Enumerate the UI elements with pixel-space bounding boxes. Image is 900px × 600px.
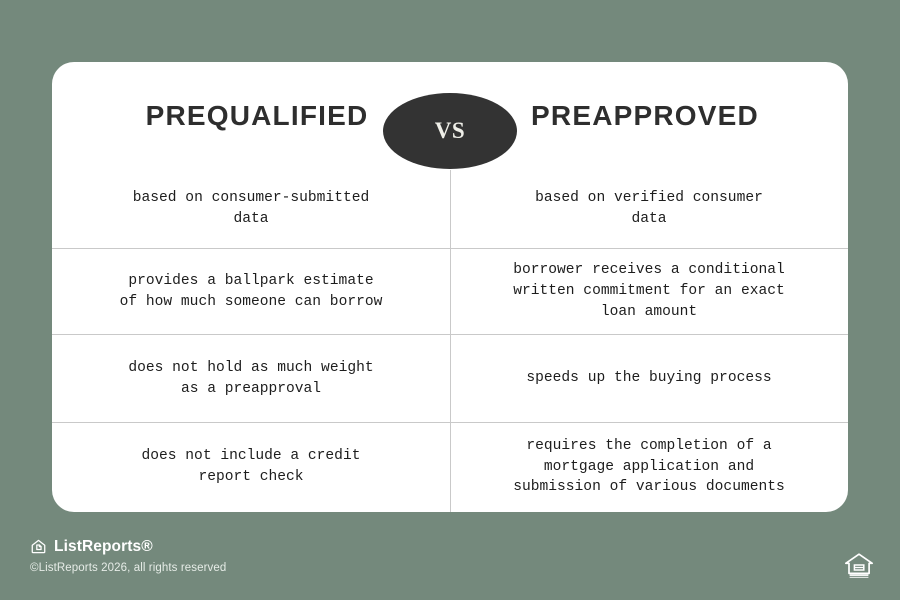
comparison-card: PREQUALIFIED PREAPPROVED VS based on con… — [52, 62, 848, 512]
cell-text: does not include a credit report check — [142, 446, 361, 487]
cell-text: requires the completion of a mortgage ap… — [513, 436, 785, 498]
table-cell-left: provides a ballpark estimate of how much… — [52, 249, 450, 334]
page-title-prequalified: PREQUALIFIED — [146, 100, 369, 132]
footer-branding: ListReports® ©ListReports 2026, all righ… — [30, 538, 450, 574]
poster-canvas: PREQUALIFIED PREAPPROVED VS based on con… — [0, 0, 900, 600]
table-cell-right: based on verified consumer data — [450, 170, 848, 248]
brand-lockup: ListReports® — [30, 538, 450, 555]
vs-badge: VS — [383, 93, 517, 169]
cell-text: provides a ballpark estimate of how much… — [120, 271, 383, 312]
page-title-preapproved: PREAPPROVED — [531, 100, 759, 132]
comparison-table: based on consumer-submitted data based o… — [52, 170, 848, 512]
table-cell-left: based on consumer-submitted data — [52, 170, 450, 248]
table-cell-right: speeds up the buying process — [450, 335, 848, 422]
vs-badge-label: VS — [435, 118, 465, 144]
copyright-text: ©ListReports 2026, all rights reserved — [30, 562, 450, 574]
table-cell-left: does not hold as much weight as a preapp… — [52, 335, 450, 422]
equal-housing-opportunity-icon — [843, 551, 875, 581]
cell-text: speeds up the buying process — [526, 368, 771, 389]
brand-name: ListReports® — [54, 539, 153, 555]
table-cell-right: borrower receives a conditional written … — [450, 249, 848, 334]
cell-text: borrower receives a conditional written … — [513, 260, 785, 322]
table-cell-left: does not include a credit report check — [52, 423, 450, 511]
listreports-house-icon — [30, 538, 47, 555]
column-divider — [450, 170, 451, 512]
cell-text: based on verified consumer data — [535, 188, 763, 229]
table-cell-right: requires the completion of a mortgage ap… — [450, 423, 848, 511]
cell-text: does not hold as much weight as a preapp… — [128, 358, 373, 399]
cell-text: based on consumer-submitted data — [133, 188, 369, 229]
